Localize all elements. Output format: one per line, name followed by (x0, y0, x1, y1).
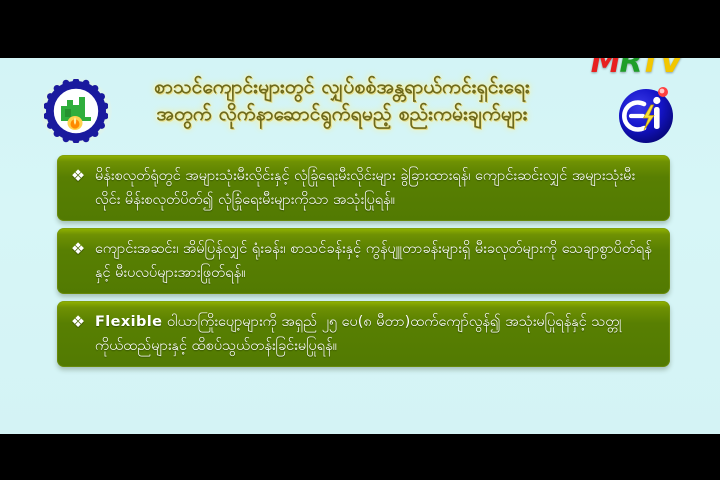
bullet-diamond-icon: ❖ (70, 312, 86, 332)
slide-header: စာသင်ကျောင်းများတွင် လျှပ်စစ်အန္တရာယ်ကင်… (0, 58, 720, 152)
title-line-2: အတွက် လိုက်နာဆောင်ရွက်ရမည့် စည်းကမ်းချက်… (118, 101, 566, 128)
letterbox-top (0, 0, 720, 58)
flexible-keyword: Flexible (95, 314, 162, 330)
mrtv-letter-v: V (660, 58, 682, 80)
title-line-1: စာသင်ကျောင်းများတွင် လျှပ်စစ်အန္တရာယ်ကင်… (118, 74, 566, 101)
guideline-text-3-body: ဝါယာကြိုးပျော့များကို အရှည် ၂၅ ပေ(၈ မီတာ… (95, 314, 622, 354)
guideline-text-2: ကျောင်းအဆင်း၊ အိမ်ပြန်လျှင် ရုံးခန်း၊ စာ… (95, 237, 656, 285)
emblem-artwork (44, 79, 108, 143)
guideline-box-2: ❖ ကျောင်းအဆင်း၊ အိမ်ပြန်လျှင် ရုံးခန်း၊ … (57, 228, 670, 294)
mrtv-letter-r: R (620, 58, 641, 80)
guideline-box-1: ❖ မိန်းစလုတ်ရုံတွင် အများသုံးမီးလိုင်းနှ… (57, 155, 670, 221)
slide-stage: စာသင်ကျောင်းများတွင် လျှပ်စစ်အန္တရာယ်ကင်… (0, 58, 720, 434)
guideline-text-3: Flexible ဝါယာကြိုးပျော့များကို အရှည် ၂၅ … (95, 310, 656, 358)
mrtv-letter-t: T (640, 58, 659, 80)
ei-logo-artwork (614, 80, 680, 146)
page-title: စာသင်ကျောင်းများတွင် လျှပ်စစ်အန္တရာယ်ကင်… (118, 74, 566, 128)
mrtv-letter-m: M (591, 58, 620, 80)
bullet-diamond-icon: ❖ (70, 166, 86, 186)
broadcast-screen: စာသင်ကျောင်းများတွင် လျှပ်စစ်အန္တရာယ်ကင်… (0, 0, 720, 480)
letterbox-bottom (0, 434, 720, 480)
ei-program-logo-icon (614, 80, 680, 146)
bullet-diamond-icon: ❖ (70, 239, 86, 259)
mrtv-channel-logo: MRTV (591, 58, 682, 78)
guideline-text-1: မိန်းစလုတ်ရုံတွင် အများသုံးမီးလိုင်းနှင့… (95, 164, 656, 212)
ministry-emblem-icon (40, 78, 112, 144)
guideline-box-3: ❖ Flexible ဝါယာကြိုးပျော့များကို အရှည် ၂… (57, 301, 670, 367)
